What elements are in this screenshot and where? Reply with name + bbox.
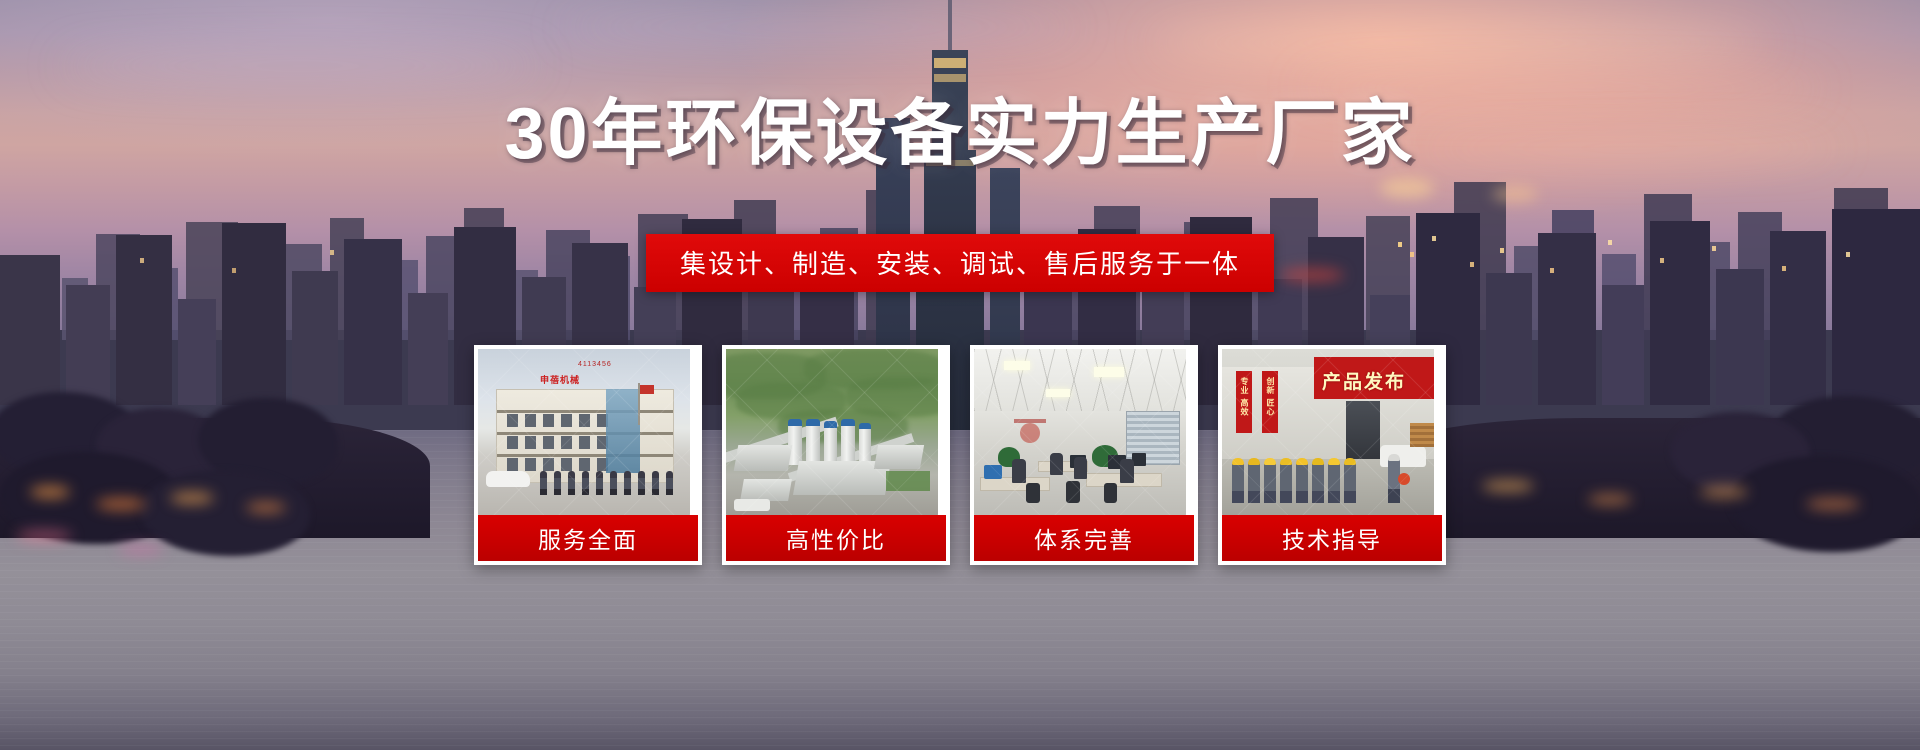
hero-banner: 30年环保设备实力生产厂家 集设计、制造、安装、调试、售后服务于一体 41134… [0,0,1920,750]
feature-card[interactable]: 体系完善 [970,345,1198,565]
bank-light [1700,486,1748,498]
billboard-glow [1492,186,1538,202]
photo-phone-number: 4113456 [578,361,612,368]
cloud-streak [560,18,1080,36]
bank-light [246,502,286,513]
feature-card[interactable]: 高性价比 [722,345,950,565]
bank-light [1806,498,1860,510]
billboard-glow [1380,178,1434,198]
card-photo-factory-workers: 产品发布 专业 高效 创新 匠心 [1222,349,1434,515]
photo-company-sign: 申蓓机械 [540,373,580,386]
tower-light [934,74,966,82]
bank-light [96,498,146,510]
bank-light [170,492,214,504]
bank-light [118,544,164,555]
window-light [1432,236,1436,241]
window-light [1782,266,1786,271]
tower-antenna [948,0,952,56]
bank-light [16,530,72,542]
cloud-streak [60,55,540,77]
card-label: 体系完善 [970,515,1198,565]
window-light [1712,246,1716,251]
window-light [1398,242,1402,247]
cloud-streak [1150,30,1770,56]
neon-sign-glow [1280,268,1344,282]
feature-card-row: 4113456 申蓓机械 [474,345,1446,565]
photo-banner-right: 创新 匠心 [1265,377,1276,416]
card-photo-headquarters: 4113456 申蓓机械 [478,349,690,515]
window-light [1550,268,1554,273]
window-light [1470,262,1474,267]
window-light [140,258,144,263]
feature-card[interactable]: 产品发布 专业 高效 创新 匠心 [1218,345,1446,565]
banner-subtitle-bar: 集设计、制造、安装、调试、售后服务于一体 [646,234,1274,292]
card-photo-cement-plant [726,349,938,515]
window-light [232,268,236,273]
window-light [330,250,334,255]
feature-card[interactable]: 4113456 申蓓机械 [474,345,702,565]
window-light [1500,248,1504,253]
window-light [1608,240,1612,245]
bank-light [1588,494,1632,505]
window-light [1846,252,1850,257]
banner-headline: 30年环保设备实力生产厂家 [0,98,1920,170]
card-label: 服务全面 [474,515,702,565]
card-photo-office-interior [974,349,1186,515]
window-light [1410,252,1414,257]
tower-light [934,58,966,68]
bank-light [30,486,70,498]
card-label: 技术指导 [1218,515,1446,565]
photo-wall-banner: 产品发布 [1322,367,1406,394]
window-light [1660,258,1664,263]
bank-light [1482,480,1534,492]
card-label: 高性价比 [722,515,950,565]
photo-banner-left: 专业 高效 [1239,377,1250,416]
